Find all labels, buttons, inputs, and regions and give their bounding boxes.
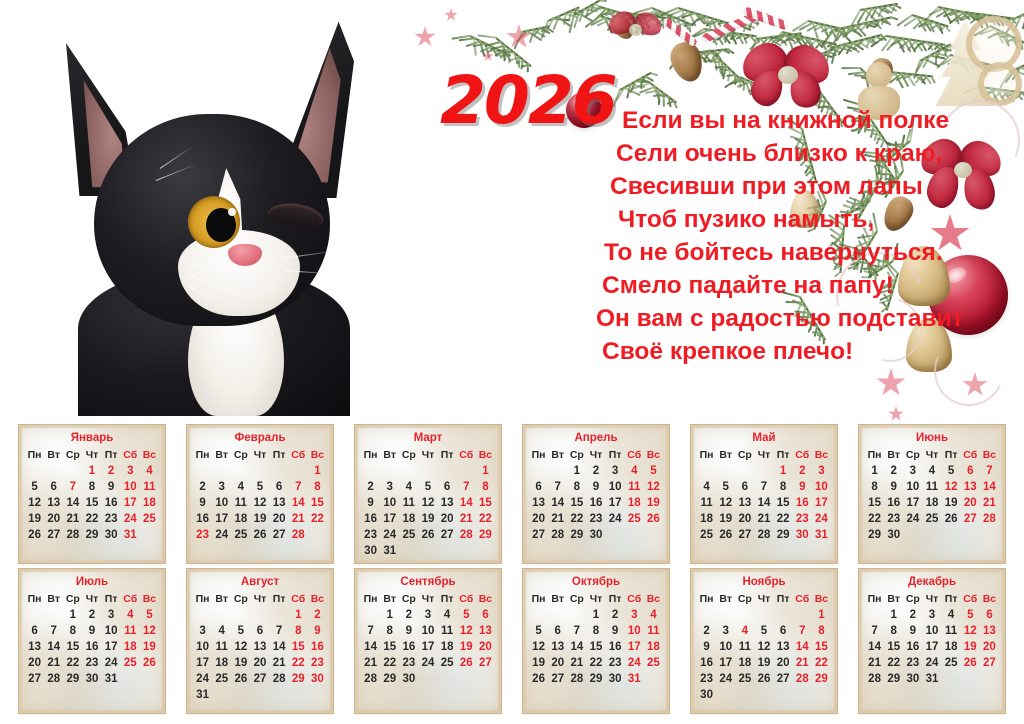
day-cell: 29 bbox=[380, 671, 399, 687]
day-cell: 21 bbox=[44, 655, 63, 671]
fir-branch bbox=[574, 0, 601, 16]
day-cell: 15 bbox=[884, 639, 903, 655]
day-cell: 29 bbox=[865, 527, 884, 543]
day-cell: 2 bbox=[361, 479, 380, 495]
week-row: 20212223242526 bbox=[25, 655, 159, 671]
day-cell: 21 bbox=[567, 655, 586, 671]
day-cell: 1 bbox=[884, 607, 903, 623]
tree-ornament-icon bbox=[930, 20, 1000, 106]
week-row: 2345678 bbox=[361, 479, 495, 495]
month-card: ФевральПнВтСрЧтПтСбВс1234567891011121314… bbox=[186, 424, 334, 564]
day-cell: 21 bbox=[457, 511, 476, 527]
day-cell: 20 bbox=[250, 655, 269, 671]
day-cell: 23 bbox=[102, 511, 121, 527]
day-cell: 14 bbox=[361, 639, 380, 655]
week-row: 3456789 bbox=[193, 623, 327, 639]
day-cell: 6 bbox=[735, 479, 754, 495]
day-cell: 28 bbox=[548, 527, 567, 543]
snowflake-ornament-icon bbox=[978, 62, 1022, 106]
day-cell-empty bbox=[457, 671, 476, 687]
weekday-header: Пн bbox=[25, 591, 44, 607]
day-cell: 31 bbox=[121, 527, 140, 543]
day-cell: 23 bbox=[308, 655, 327, 671]
day-cell: 1 bbox=[476, 463, 495, 479]
day-cell: 17 bbox=[193, 655, 212, 671]
day-cell: 20 bbox=[270, 511, 289, 527]
day-cell: 10 bbox=[418, 623, 437, 639]
week-row: 24252627282930 bbox=[193, 671, 327, 687]
weekday-header: Вт bbox=[548, 591, 567, 607]
day-cell: 12 bbox=[457, 623, 476, 639]
week-row: 78910111213 bbox=[865, 623, 999, 639]
day-cell: 17 bbox=[716, 655, 735, 671]
fir-branch bbox=[626, 12, 672, 20]
day-cell-empty bbox=[250, 607, 269, 623]
day-cell: 26 bbox=[942, 511, 961, 527]
day-cell: 26 bbox=[457, 655, 476, 671]
day-cell-empty bbox=[212, 607, 231, 623]
fir-branch bbox=[890, 71, 933, 77]
day-cell: 13 bbox=[774, 639, 793, 655]
day-cell: 4 bbox=[697, 479, 716, 495]
day-cell: 5 bbox=[140, 607, 159, 623]
day-cell: 30 bbox=[697, 687, 716, 703]
day-cell: 4 bbox=[644, 607, 663, 623]
day-cell-empty bbox=[25, 463, 44, 479]
day-cell: 22 bbox=[812, 655, 831, 671]
day-cell: 11 bbox=[399, 495, 418, 511]
weekday-header: Вт bbox=[380, 447, 399, 463]
day-cell: 17 bbox=[922, 639, 941, 655]
month-table: ПнВтСрЧтПтСбВс12345678910111213141516171… bbox=[865, 591, 999, 687]
weekday-header: Ср bbox=[63, 591, 82, 607]
weekday-header: Чт bbox=[82, 591, 101, 607]
day-cell: 11 bbox=[735, 639, 754, 655]
day-cell: 18 bbox=[231, 511, 250, 527]
day-cell: 4 bbox=[140, 463, 159, 479]
day-cell: 22 bbox=[82, 511, 101, 527]
day-cell: 27 bbox=[270, 527, 289, 543]
day-cell: 1 bbox=[774, 463, 793, 479]
weekday-header: Сб bbox=[793, 591, 812, 607]
month-table: ПнВтСрЧтПтСбВс12345678910111213141516171… bbox=[697, 591, 831, 703]
day-cell: 13 bbox=[438, 495, 457, 511]
day-cell-empty bbox=[980, 671, 999, 687]
day-cell-empty bbox=[735, 687, 754, 703]
day-cell: 26 bbox=[140, 655, 159, 671]
day-cell: 2 bbox=[586, 463, 605, 479]
day-cell-empty bbox=[457, 543, 476, 559]
weekday-header: Вт bbox=[716, 591, 735, 607]
day-cell: 24 bbox=[102, 655, 121, 671]
day-cell: 14 bbox=[793, 639, 812, 655]
day-cell: 10 bbox=[716, 639, 735, 655]
day-cell: 23 bbox=[586, 511, 605, 527]
poem-line: Он вам с радостью подставит bbox=[596, 302, 1016, 335]
weekday-header: Пн bbox=[697, 591, 716, 607]
red-star-icon bbox=[444, 8, 458, 22]
day-cell: 11 bbox=[942, 623, 961, 639]
month-name: Июнь bbox=[865, 432, 999, 444]
week-row: 123456 bbox=[865, 607, 999, 623]
day-cell: 10 bbox=[380, 495, 399, 511]
day-cell: 27 bbox=[961, 511, 980, 527]
day-cell: 20 bbox=[529, 511, 548, 527]
day-cell: 23 bbox=[793, 511, 812, 527]
weekday-header: Сб bbox=[457, 447, 476, 463]
day-cell: 19 bbox=[418, 511, 437, 527]
day-cell: 21 bbox=[865, 655, 884, 671]
day-cell: 3 bbox=[903, 463, 922, 479]
day-cell-empty bbox=[289, 463, 308, 479]
week-row: 12 bbox=[193, 607, 327, 623]
weekday-header: Ср bbox=[567, 591, 586, 607]
day-cell: 8 bbox=[586, 623, 605, 639]
day-cell: 17 bbox=[380, 511, 399, 527]
weekday-header: Пн bbox=[865, 447, 884, 463]
day-cell: 24 bbox=[121, 511, 140, 527]
week-row: 17181920212223 bbox=[193, 655, 327, 671]
day-cell: 23 bbox=[903, 655, 922, 671]
day-cell: 30 bbox=[903, 671, 922, 687]
day-cell-empty bbox=[529, 607, 548, 623]
day-cell: 11 bbox=[212, 639, 231, 655]
day-cell: 2 bbox=[102, 463, 121, 479]
day-cell: 17 bbox=[212, 511, 231, 527]
day-cell: 4 bbox=[625, 463, 644, 479]
weekday-header: Ср bbox=[903, 447, 922, 463]
week-row: 12345 bbox=[529, 463, 663, 479]
day-cell: 5 bbox=[418, 479, 437, 495]
day-cell: 21 bbox=[361, 655, 380, 671]
day-cell-empty bbox=[735, 463, 754, 479]
day-cell-empty bbox=[212, 687, 231, 703]
day-cell: 27 bbox=[438, 527, 457, 543]
day-cell: 26 bbox=[754, 671, 773, 687]
day-cell: 6 bbox=[980, 607, 999, 623]
day-cell: 2 bbox=[793, 463, 812, 479]
day-cell: 7 bbox=[63, 479, 82, 495]
month-name: Март bbox=[361, 432, 495, 444]
day-cell: 7 bbox=[44, 623, 63, 639]
day-cell: 9 bbox=[193, 495, 212, 511]
day-cell: 9 bbox=[361, 495, 380, 511]
day-cell: 28 bbox=[754, 527, 773, 543]
month-table: ПнВтСрЧтПтСбВс12345678910111213141516171… bbox=[25, 591, 159, 687]
day-cell: 30 bbox=[606, 671, 625, 687]
calendar-poster: 2026 Если вы на книжной полке Сели очень… bbox=[0, 0, 1024, 724]
day-cell: 10 bbox=[606, 479, 625, 495]
fir-branch bbox=[990, 25, 1024, 44]
fir-branch bbox=[1016, 0, 1024, 19]
day-cell: 9 bbox=[697, 639, 716, 655]
day-cell: 17 bbox=[812, 495, 831, 511]
weekday-header: Вс bbox=[140, 591, 159, 607]
day-cell: 8 bbox=[308, 479, 327, 495]
day-cell: 12 bbox=[644, 479, 663, 495]
day-cell: 5 bbox=[644, 463, 663, 479]
day-cell: 2 bbox=[697, 623, 716, 639]
day-cell-empty bbox=[961, 671, 980, 687]
day-cell: 26 bbox=[961, 655, 980, 671]
day-cell: 22 bbox=[865, 511, 884, 527]
weekday-header: Пн bbox=[529, 591, 548, 607]
year-title: 2026 bbox=[440, 62, 616, 139]
weekday-header: Сб bbox=[625, 591, 644, 607]
poem-line: Смело падайте на папу! bbox=[596, 269, 1016, 302]
weekday-header: Вс bbox=[308, 447, 327, 463]
week-row: 15161718192021 bbox=[865, 495, 999, 511]
day-cell: 13 bbox=[961, 479, 980, 495]
weekday-header: Пт bbox=[438, 447, 457, 463]
day-cell: 7 bbox=[567, 623, 586, 639]
day-cell: 6 bbox=[25, 623, 44, 639]
month-name: Октябрь bbox=[529, 576, 663, 588]
day-cell: 1 bbox=[82, 463, 101, 479]
day-cell: 17 bbox=[418, 639, 437, 655]
weekday-header: Ср bbox=[735, 447, 754, 463]
day-cell: 5 bbox=[754, 623, 773, 639]
day-cell: 2 bbox=[399, 607, 418, 623]
day-cell: 2 bbox=[884, 463, 903, 479]
gingerbread-man-icon bbox=[866, 62, 892, 88]
weekday-header: Вс bbox=[980, 447, 999, 463]
weekday-header: Вт bbox=[44, 591, 63, 607]
day-cell: 8 bbox=[812, 623, 831, 639]
fir-branch bbox=[1010, 52, 1024, 73]
day-cell: 22 bbox=[884, 655, 903, 671]
day-cell: 9 bbox=[102, 479, 121, 495]
poem-line: То не бойтесь навернуться. bbox=[596, 236, 1016, 269]
week-row: 31 bbox=[193, 687, 327, 703]
day-cell: 28 bbox=[567, 671, 586, 687]
day-cell: 29 bbox=[289, 671, 308, 687]
weekday-header: Вс bbox=[812, 591, 831, 607]
day-cell-empty bbox=[270, 687, 289, 703]
day-cell: 20 bbox=[735, 511, 754, 527]
month-name: Декабрь bbox=[865, 576, 999, 588]
day-cell-empty bbox=[529, 463, 548, 479]
day-cell: 21 bbox=[793, 655, 812, 671]
day-cell: 27 bbox=[250, 671, 269, 687]
day-cell: 12 bbox=[529, 639, 548, 655]
weekday-header: Сб bbox=[289, 447, 308, 463]
weekday-header: Ср bbox=[399, 447, 418, 463]
fir-branch bbox=[709, 49, 745, 84]
day-cell: 9 bbox=[903, 623, 922, 639]
week-row: 6789101112 bbox=[25, 623, 159, 639]
day-cell-empty bbox=[812, 687, 831, 703]
fir-branch bbox=[620, 71, 653, 90]
day-cell: 14 bbox=[270, 639, 289, 655]
day-cell: 23 bbox=[361, 527, 380, 543]
weekday-header: Вт bbox=[548, 447, 567, 463]
month-table: ПнВтСрЧтПтСбВс12345678910111213141516171… bbox=[193, 591, 327, 703]
weekday-header: Вт bbox=[884, 447, 903, 463]
day-cell-empty bbox=[193, 607, 212, 623]
day-cell: 9 bbox=[793, 479, 812, 495]
month-card: ДекабрьПнВтСрЧтПтСбВс1234567891011121314… bbox=[858, 568, 1006, 714]
day-cell: 31 bbox=[625, 671, 644, 687]
day-cell: 25 bbox=[922, 511, 941, 527]
day-cell: 16 bbox=[793, 495, 812, 511]
weekday-header: Чт bbox=[82, 447, 101, 463]
weekday-header: Сб bbox=[961, 591, 980, 607]
day-cell-empty bbox=[567, 607, 586, 623]
fir-branch bbox=[912, 14, 949, 27]
day-cell: 22 bbox=[380, 655, 399, 671]
day-cell: 21 bbox=[548, 511, 567, 527]
day-cell: 14 bbox=[980, 479, 999, 495]
day-cell: 31 bbox=[193, 687, 212, 703]
day-cell: 24 bbox=[625, 655, 644, 671]
day-cell: 27 bbox=[774, 671, 793, 687]
fir-branch bbox=[920, 43, 952, 62]
red-star-icon bbox=[414, 26, 436, 48]
day-cell: 21 bbox=[980, 495, 999, 511]
day-cell-empty bbox=[231, 687, 250, 703]
day-cell: 24 bbox=[716, 671, 735, 687]
day-cell: 2 bbox=[308, 607, 327, 623]
day-cell: 14 bbox=[548, 495, 567, 511]
weekday-header: Вт bbox=[716, 447, 735, 463]
day-cell: 13 bbox=[529, 495, 548, 511]
day-cell: 3 bbox=[212, 479, 231, 495]
day-cell: 24 bbox=[380, 527, 399, 543]
day-cell: 12 bbox=[716, 495, 735, 511]
weekday-header: Пн bbox=[361, 591, 380, 607]
day-cell-empty bbox=[270, 463, 289, 479]
day-cell: 30 bbox=[586, 527, 605, 543]
weekday-header: Вс bbox=[140, 447, 159, 463]
day-cell: 23 bbox=[399, 655, 418, 671]
day-cell: 19 bbox=[644, 495, 663, 511]
day-cell: 17 bbox=[121, 495, 140, 511]
weekday-header: Вс bbox=[308, 591, 327, 607]
day-cell: 27 bbox=[735, 527, 754, 543]
day-cell-empty bbox=[548, 607, 567, 623]
week-row: 25262728293031 bbox=[697, 527, 831, 543]
month-name: Август bbox=[193, 576, 327, 588]
day-cell: 10 bbox=[102, 623, 121, 639]
weekday-header: Вт bbox=[212, 447, 231, 463]
day-cell: 15 bbox=[380, 639, 399, 655]
day-cell: 1 bbox=[308, 463, 327, 479]
day-cell-empty bbox=[418, 671, 437, 687]
day-cell: 20 bbox=[961, 495, 980, 511]
day-cell: 9 bbox=[586, 479, 605, 495]
day-cell: 17 bbox=[606, 495, 625, 511]
fir-branch bbox=[830, 33, 883, 48]
weekday-header: Вс bbox=[644, 447, 663, 463]
week-row: 2345678 bbox=[193, 479, 327, 495]
week-row: 891011121314 bbox=[865, 479, 999, 495]
day-cell: 8 bbox=[82, 479, 101, 495]
day-cell-empty bbox=[793, 607, 812, 623]
day-cell: 1 bbox=[865, 463, 884, 479]
month-table: ПнВтСрЧтПтСбВс12345678910111213141516171… bbox=[529, 447, 663, 543]
day-cell: 6 bbox=[250, 623, 269, 639]
poem-line: Сели очень близко к краю, bbox=[596, 137, 1016, 170]
weekday-header: Сб bbox=[625, 447, 644, 463]
day-cell: 24 bbox=[606, 511, 625, 527]
day-cell: 19 bbox=[529, 655, 548, 671]
weekday-header: Пн bbox=[529, 447, 548, 463]
day-cell: 25 bbox=[644, 655, 663, 671]
day-cell: 29 bbox=[774, 527, 793, 543]
week-row: 1234 bbox=[529, 607, 663, 623]
fir-branch bbox=[600, 15, 643, 30]
weekday-header: Чт bbox=[922, 447, 941, 463]
day-cell: 5 bbox=[529, 623, 548, 639]
day-cell: 28 bbox=[44, 671, 63, 687]
month-name: Май bbox=[697, 432, 831, 444]
day-cell: 6 bbox=[961, 463, 980, 479]
day-cell: 4 bbox=[922, 463, 941, 479]
day-cell-empty bbox=[457, 463, 476, 479]
week-row: 28293031 bbox=[865, 671, 999, 687]
day-cell: 14 bbox=[63, 495, 82, 511]
day-cell: 18 bbox=[942, 639, 961, 655]
fir-branch bbox=[980, 86, 1024, 95]
day-cell: 25 bbox=[625, 511, 644, 527]
day-cell: 21 bbox=[270, 655, 289, 671]
day-cell: 19 bbox=[25, 511, 44, 527]
weekday-header: Ср bbox=[231, 447, 250, 463]
day-cell: 5 bbox=[457, 607, 476, 623]
day-cell: 24 bbox=[418, 655, 437, 671]
weekday-header: Ср bbox=[735, 591, 754, 607]
week-row: 3031 bbox=[361, 543, 495, 559]
week-row: 282930 bbox=[361, 671, 495, 687]
day-cell: 18 bbox=[922, 495, 941, 511]
week-row: 14151617181920 bbox=[361, 639, 495, 655]
week-row: 11121314151617 bbox=[697, 495, 831, 511]
weekday-header: Сб bbox=[793, 447, 812, 463]
day-cell: 10 bbox=[121, 479, 140, 495]
week-row: 2345678 bbox=[697, 623, 831, 639]
day-cell: 7 bbox=[548, 479, 567, 495]
day-cell: 29 bbox=[63, 671, 82, 687]
day-cell: 14 bbox=[754, 495, 773, 511]
month-name: Сентябрь bbox=[361, 576, 495, 588]
day-cell-empty bbox=[903, 527, 922, 543]
day-cell-empty bbox=[716, 463, 735, 479]
weekday-header: Вт bbox=[884, 591, 903, 607]
day-cell-empty bbox=[716, 607, 735, 623]
week-row: 18192021222324 bbox=[697, 511, 831, 527]
day-cell: 19 bbox=[961, 639, 980, 655]
day-cell: 10 bbox=[903, 479, 922, 495]
weekday-header: Сб bbox=[961, 447, 980, 463]
day-cell: 7 bbox=[270, 623, 289, 639]
weekday-header: Пт bbox=[774, 591, 793, 607]
weekday-header: Чт bbox=[418, 447, 437, 463]
day-cell: 7 bbox=[754, 479, 773, 495]
day-cell: 28 bbox=[865, 671, 884, 687]
day-cell: 25 bbox=[140, 511, 159, 527]
weekday-header: Чт bbox=[922, 591, 941, 607]
cat-illustration bbox=[60, 18, 360, 408]
day-cell-empty bbox=[754, 463, 773, 479]
day-cell: 20 bbox=[980, 639, 999, 655]
red-bow-icon bbox=[608, 10, 662, 50]
red-bow-icon bbox=[742, 40, 832, 106]
day-cell: 2 bbox=[193, 479, 212, 495]
day-cell-empty bbox=[942, 671, 961, 687]
week-row: 10111213141516 bbox=[193, 639, 327, 655]
week-row: 16171819202122 bbox=[361, 511, 495, 527]
